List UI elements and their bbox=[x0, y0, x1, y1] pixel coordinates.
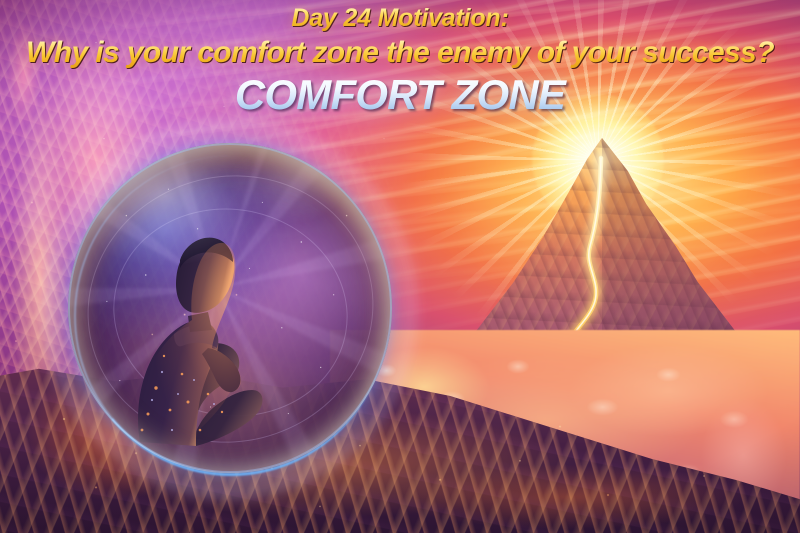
bubble-glass-overlay bbox=[68, 143, 392, 473]
day-label: Day 24 Motivation: bbox=[0, 6, 800, 31]
question-headline: Why is your comfort zone the enemy of yo… bbox=[0, 38, 800, 68]
headline-block: Day 24 Motivation: Why is your comfort z… bbox=[0, 0, 800, 116]
motivation-poster: Day 24 Motivation: Why is your comfort z… bbox=[0, 0, 800, 533]
title-comfort-zone: COMFORT ZONE bbox=[0, 74, 800, 116]
bubble-bottom-rim-glow bbox=[74, 156, 387, 476]
